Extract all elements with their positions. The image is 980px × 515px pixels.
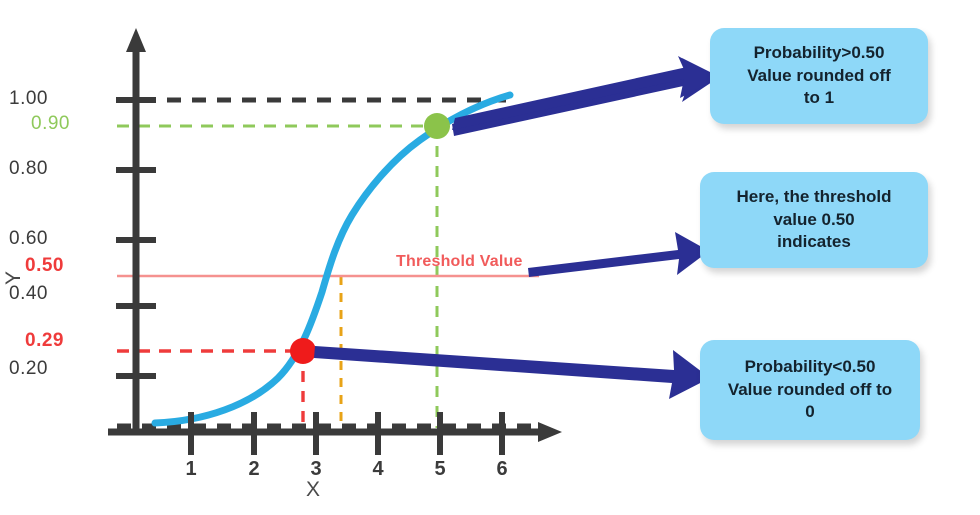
annotation-arrow-bottom	[314, 346, 710, 399]
y-tick-label-0.29: 0.29	[0, 330, 64, 352]
y-tick-label-0.60: 0.60	[0, 228, 48, 250]
y-tick-label-0.20: 0.20	[0, 358, 48, 380]
y-tick-label-0.80: 0.80	[0, 158, 48, 180]
x-tick-label-4: 4	[363, 458, 393, 481]
diagram-canvas: 1.00 0.90 0.80 0.60 0.50 0.40 0.29 0.20 …	[0, 0, 980, 515]
y-axis-arrowhead	[126, 28, 146, 52]
y-tick-label-0.90: 0.90	[0, 113, 70, 135]
annotation-arrow-top-shaft	[452, 58, 720, 130]
x-axis-title: X	[298, 478, 328, 502]
below-threshold-point[interactable]	[290, 338, 316, 364]
threshold-value-label: Threshold Value	[396, 253, 523, 271]
x-tick-label-5: 5	[425, 458, 455, 481]
callout-threshold-explanation[interactable]: Here, the threshold value 0.50 indicates	[700, 172, 928, 268]
callout-below-threshold-text: Probability<0.50 Value rounded off to 0	[728, 356, 892, 423]
annotation-arrow-middle	[528, 232, 709, 277]
callout-above-threshold-text: Probability>0.50 Value rounded off to 1	[747, 42, 891, 109]
callout-threshold-explanation-text: Here, the threshold value 0.50 indicates	[737, 186, 892, 253]
callout-below-threshold[interactable]: Probability<0.50 Value rounded off to 0	[700, 340, 920, 440]
callout-above-threshold[interactable]: Probability>0.50 Value rounded off to 1	[710, 28, 928, 124]
y-axis-title: Y	[2, 266, 26, 290]
x-tick-label-6: 6	[487, 458, 517, 481]
x-axis-arrowhead	[538, 422, 562, 442]
y-tick-label-1.00: 1.00	[0, 88, 48, 110]
above-threshold-point[interactable]	[424, 113, 450, 139]
x-tick-label-2: 2	[239, 458, 269, 481]
x-tick-label-1: 1	[176, 458, 206, 481]
annotation-arrow-top	[0, 0, 718, 136]
